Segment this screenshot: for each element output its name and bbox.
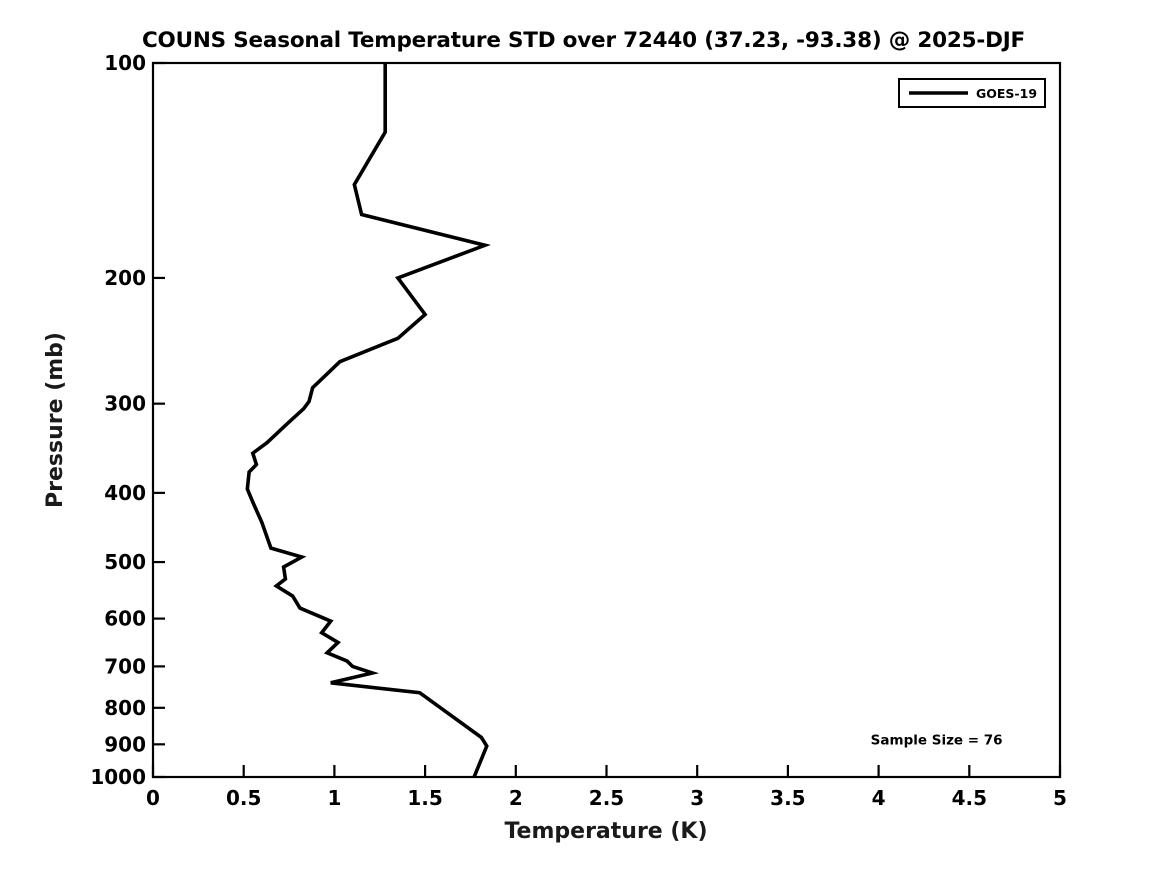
chart-page: COUNS Seasonal Temperature STD over 7244… bbox=[0, 0, 1167, 875]
data-series-group bbox=[247, 63, 486, 777]
y-axis-tick-labels: 1002003004005006007008009001000 bbox=[90, 51, 146, 789]
x-tick-label-3.5: 3.5 bbox=[770, 786, 805, 810]
data-line-goes-19 bbox=[247, 63, 486, 777]
x-axis-tick-marks bbox=[153, 765, 1060, 777]
y-axis-title: Pressure (mb) bbox=[43, 332, 68, 508]
legend-label-goes-19: GOES-19 bbox=[976, 86, 1037, 101]
y-tick-label-500: 500 bbox=[104, 550, 146, 574]
annotations-group: Sample Size = 76 bbox=[871, 732, 1003, 748]
annotation-sample-size: Sample Size = 76 bbox=[871, 732, 1003, 748]
x-tick-label-0.5: 0.5 bbox=[226, 786, 261, 810]
y-tick-label-700: 700 bbox=[104, 654, 146, 678]
x-tick-label-4: 4 bbox=[872, 786, 886, 810]
x-axis-tick-labels: 00.511.522.533.544.55 bbox=[146, 786, 1067, 810]
x-tick-label-3: 3 bbox=[690, 786, 704, 810]
y-tick-label-1000: 1000 bbox=[90, 765, 146, 789]
x-tick-label-0: 0 bbox=[146, 786, 160, 810]
y-axis-tick-marks bbox=[153, 63, 165, 777]
x-tick-label-5: 5 bbox=[1053, 786, 1067, 810]
y-tick-label-400: 400 bbox=[104, 481, 146, 505]
x-tick-label-1.5: 1.5 bbox=[407, 786, 442, 810]
y-tick-label-600: 600 bbox=[104, 607, 146, 631]
x-tick-label-1: 1 bbox=[327, 786, 341, 810]
y-tick-label-900: 900 bbox=[104, 732, 146, 756]
y-tick-label-300: 300 bbox=[104, 392, 146, 416]
temperature-profile-chart: 1002003004005006007008009001000 00.511.5… bbox=[0, 0, 1167, 875]
legend[interactable]: GOES-19 bbox=[899, 79, 1045, 107]
y-tick-label-200: 200 bbox=[104, 266, 146, 290]
y-tick-label-800: 800 bbox=[104, 696, 146, 720]
y-tick-label-100: 100 bbox=[104, 51, 146, 75]
x-tick-label-4.5: 4.5 bbox=[952, 786, 987, 810]
x-tick-label-2.5: 2.5 bbox=[589, 786, 624, 810]
x-axis-title: Temperature (K) bbox=[504, 819, 707, 844]
x-tick-label-2: 2 bbox=[509, 786, 523, 810]
